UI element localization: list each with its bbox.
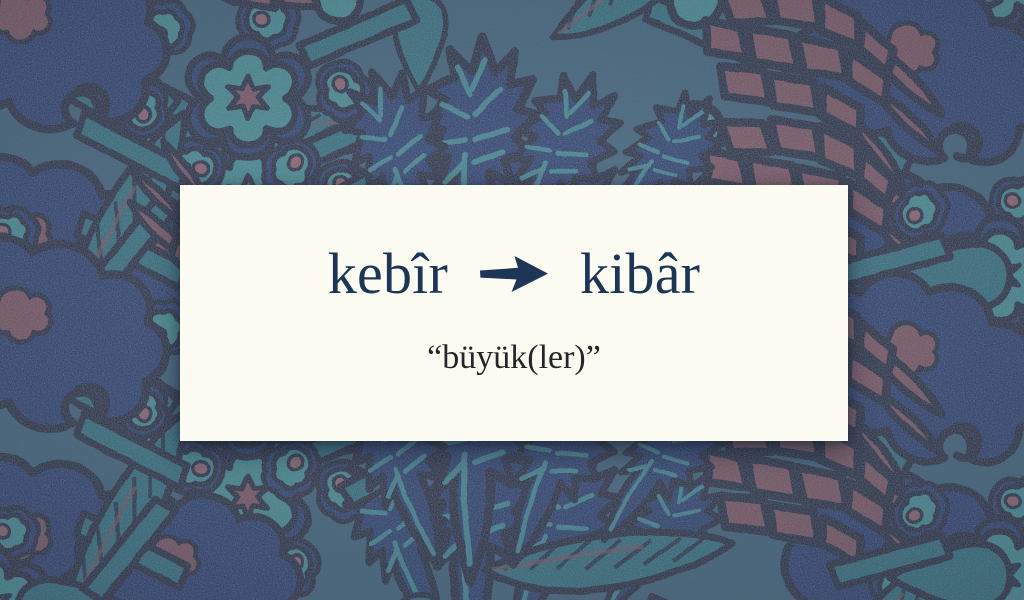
vocabulary-card: kebîr kibâr “büyük(ler)” xyxy=(180,185,848,441)
gloss-translation: “büyük(ler)” xyxy=(427,339,601,376)
tile-card-scene: kebîr kibâr “büyük(ler)” xyxy=(0,0,1024,600)
term-transformation-row: kebîr kibâr xyxy=(328,244,700,305)
target-term: kibâr xyxy=(580,244,700,305)
source-term: kebîr xyxy=(328,244,448,305)
arrow-right-icon xyxy=(478,252,550,296)
